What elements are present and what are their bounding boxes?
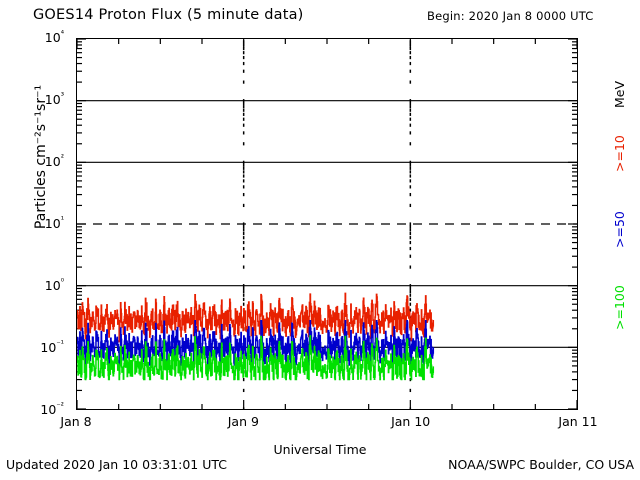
legend-unit-mev: MeV xyxy=(614,81,627,108)
begin-time-label: Begin: 2020 Jan 8 0000 UTC xyxy=(427,11,593,23)
legend-entry-ge100: >=100 xyxy=(614,285,627,330)
y-tick-label: 10⁻¹ xyxy=(40,342,64,355)
x-tick-label: Jan 11 xyxy=(558,416,597,429)
source-label: NOAA/SWPC Boulder, CO USA xyxy=(448,459,634,472)
plot-area xyxy=(76,38,578,410)
chart-canvas: GOES14 Proton Flux (5 minute data) Begin… xyxy=(0,0,640,480)
data-traces-svg xyxy=(77,39,577,409)
updated-label: Updated 2020 Jan 10 03:31:01 UTC xyxy=(6,459,227,472)
legend-entry-ge10: >=10 xyxy=(614,135,627,172)
x-axis-title: Universal Time xyxy=(0,444,640,457)
x-tick-label: Jan 10 xyxy=(391,416,430,429)
x-tick-label: Jan 9 xyxy=(228,416,259,429)
legend-entry-ge50: >=50 xyxy=(614,211,627,248)
y-axis-title: Particles cm⁻²s⁻¹sr⁻¹ xyxy=(34,32,48,282)
chart-title: GOES14 Proton Flux (5 minute data) xyxy=(33,8,304,23)
data-trace xyxy=(77,293,433,341)
plot-clip xyxy=(77,39,577,409)
x-tick-label: Jan 8 xyxy=(60,416,91,429)
